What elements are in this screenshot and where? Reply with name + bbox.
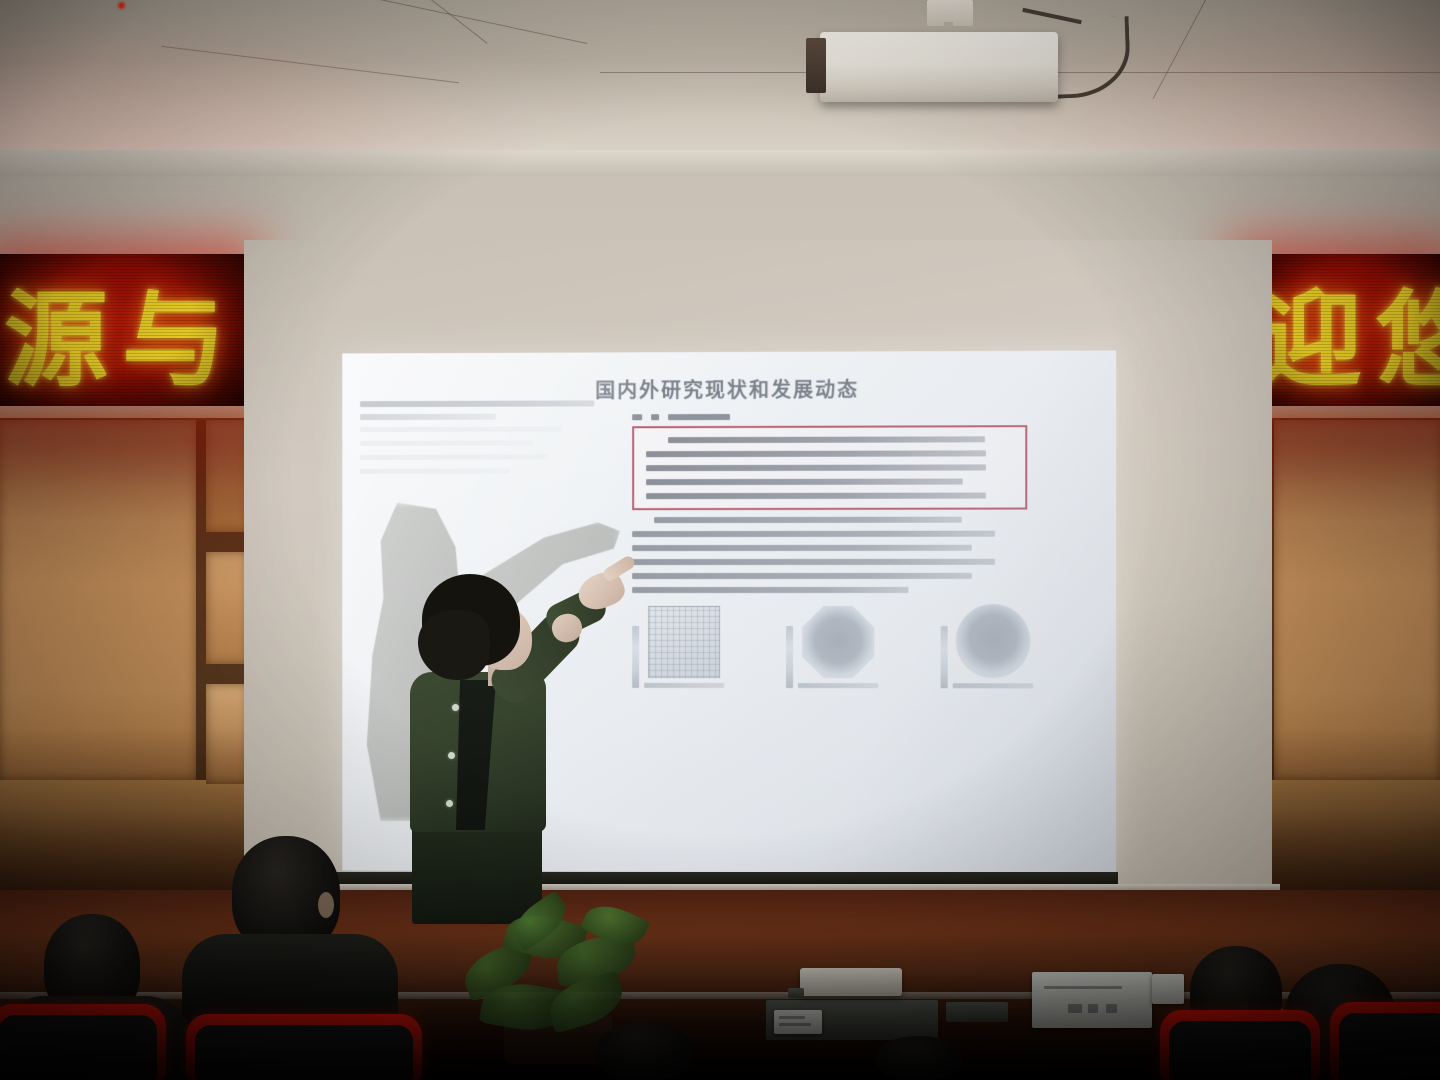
slide-left-heading — [360, 400, 594, 407]
audience-head — [876, 1036, 962, 1080]
colorbar-b — [786, 626, 793, 688]
figure-caption-c — [953, 683, 1034, 688]
equipment-knob — [788, 988, 804, 998]
audience-head — [596, 1022, 694, 1080]
colorbar-c — [941, 626, 948, 688]
audience-ear — [318, 892, 334, 918]
auditorium-seat[interactable] — [1330, 1002, 1440, 1080]
amplifier-box — [800, 968, 902, 996]
slide-figure-c — [941, 604, 1034, 688]
figure-caption-a — [644, 683, 724, 688]
figure-caption-b — [798, 683, 878, 688]
slide-figure-row — [632, 604, 1033, 688]
led-sign-right-text: 迎悠 — [1244, 254, 1440, 406]
name-placard — [1032, 972, 1152, 1028]
slide-right-column — [632, 413, 1027, 601]
auditorium-seat[interactable] — [1160, 1010, 1320, 1080]
led-sign-left-text: 源与 — [0, 254, 246, 406]
presenter — [396, 556, 636, 924]
wall-molding-band — [0, 150, 1440, 176]
ceiling-projector — [820, 32, 1058, 102]
figure-circle — [956, 604, 1031, 678]
slide-section-label — [632, 413, 1027, 420]
slide-title: 国内外研究现状和发展动态 — [342, 373, 1116, 405]
slide-left-column — [360, 400, 594, 482]
equipment-block — [946, 1002, 1008, 1022]
slide-figure-b — [786, 606, 878, 688]
slide-highlight-box — [632, 425, 1027, 510]
auditorium-scene: 源与 迎悠 国内外研究现状和发展动态 — [0, 0, 1440, 1080]
audience-shoulders — [182, 934, 398, 1024]
slide-body-paragraph — [632, 517, 1027, 593]
name-placard-side — [1152, 974, 1184, 1004]
figure-octagon — [802, 606, 874, 678]
slide-figure-a — [632, 606, 724, 688]
auditorium-seat[interactable] — [0, 1004, 166, 1080]
ceiling-red-glow-left — [0, 0, 580, 150]
led-sign-right: 迎悠 — [1244, 254, 1440, 406]
figure-square-mesh — [648, 606, 720, 678]
presenter-hair-back — [418, 610, 490, 680]
slide-left-subitem — [360, 414, 496, 420]
equipment-label-small — [774, 1010, 822, 1034]
wood-wall-left — [0, 406, 248, 926]
auditorium-seat[interactable] — [186, 1014, 422, 1080]
projector-lens — [806, 38, 826, 93]
led-sign-left: 源与 — [0, 254, 246, 406]
